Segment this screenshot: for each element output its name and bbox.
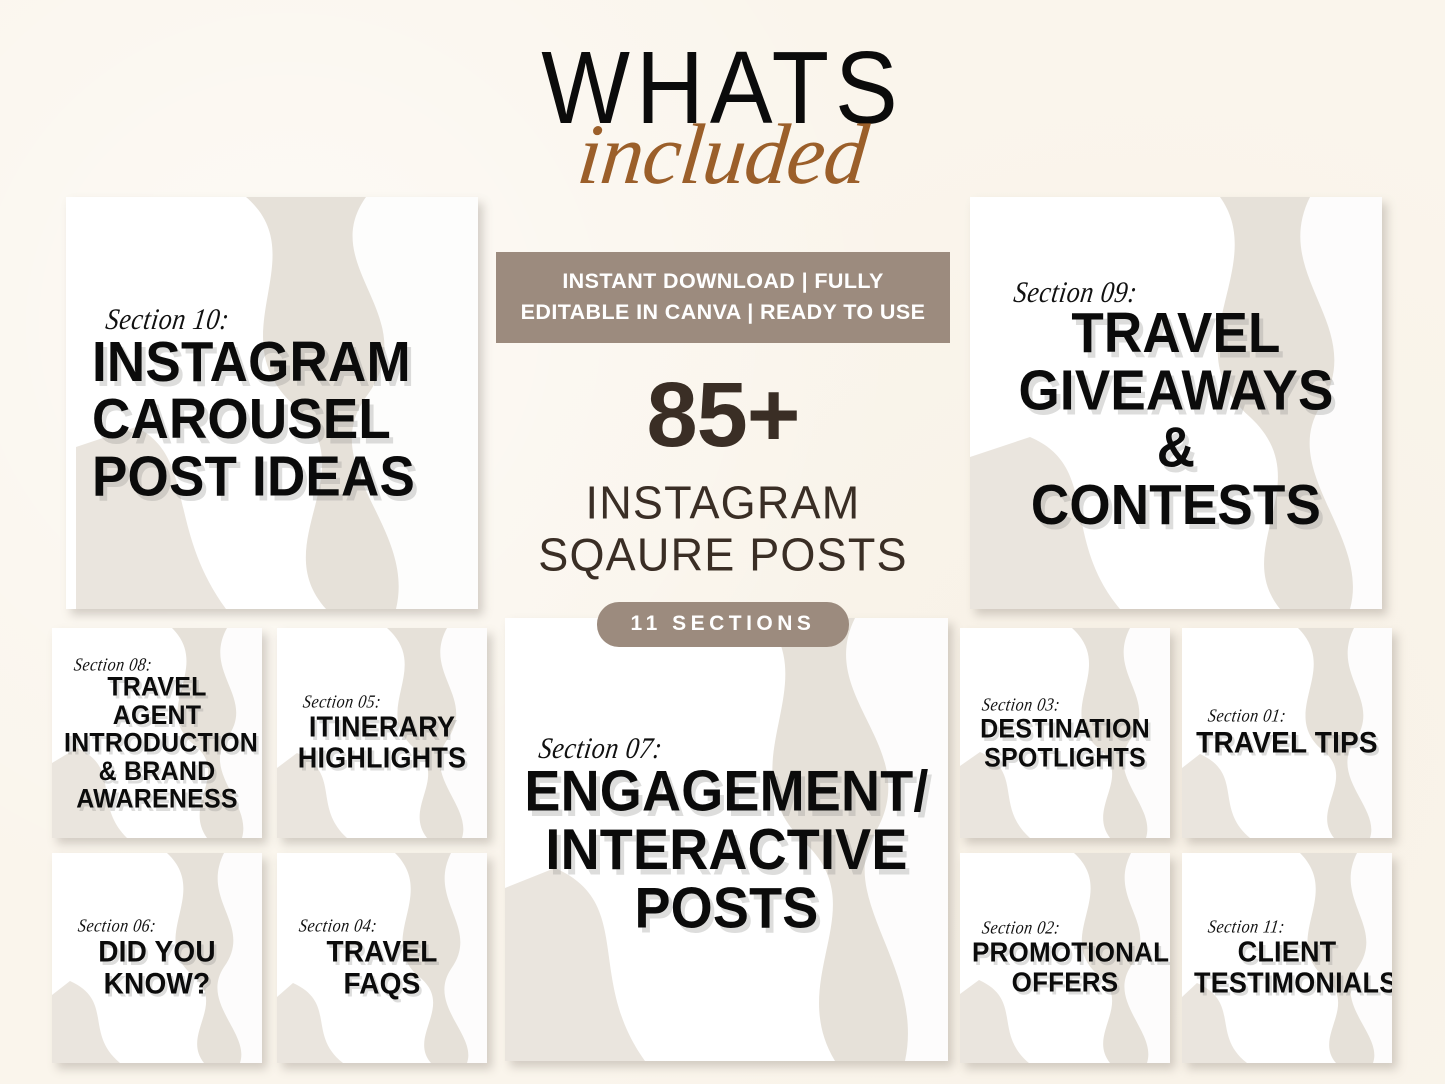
post-count: 85+	[496, 369, 950, 461]
card-title-line-3: POST IDEAS	[92, 449, 415, 506]
card-content: Section 02: PROMOTIONAL OFFERS	[960, 853, 1170, 1063]
card-title-line-3: & BRAND	[64, 757, 250, 785]
card-title-line-3: CONTESTS	[996, 477, 1356, 534]
center-info-column: INSTANT DOWNLOAD | FULLY EDITABLE IN CAN…	[496, 252, 950, 647]
card-title: TRAVEL FAQS	[289, 937, 475, 1000]
card-travel-faqs[interactable]: Section 04: TRAVEL FAQS	[277, 853, 487, 1063]
card-content: Section 04: TRAVEL FAQS	[277, 853, 487, 1063]
card-content: Section 03: DESTINATION SPOTLIGHTS	[960, 628, 1170, 838]
card-engagement-interactive[interactable]: Section 07: ENGAGEMENT/ INTERACTIVE POST…	[505, 618, 948, 1061]
card-title-line-1: ENGAGEMENT/	[521, 763, 932, 821]
post-type-label: INSTAGRAM SQAURE POSTS	[496, 477, 950, 582]
card-did-you-know[interactable]: Section 06: DID YOU KNOW?	[52, 853, 262, 1063]
card-content: Section 06: DID YOU KNOW?	[52, 853, 262, 1063]
card-title-line-1: DESTINATION	[972, 715, 1158, 743]
card-content: Section 08: TRAVEL AGENT INTRODUCTION & …	[52, 628, 262, 838]
card-travel-tips[interactable]: Section 01: TRAVEL TIPS	[1182, 628, 1392, 838]
card-title: TRAVEL AGENT INTRODUCTION & BRAND AWAREN…	[64, 673, 250, 813]
card-title: DESTINATION SPOTLIGHTS	[972, 715, 1158, 771]
card-content: Section 10: INSTAGRAM CAROUSEL POST IDEA…	[66, 197, 478, 609]
card-destination-spotlights[interactable]: Section 03: DESTINATION SPOTLIGHTS	[960, 628, 1170, 838]
section-label: Section 03:	[981, 695, 1160, 716]
card-title-line-1: DID YOU	[64, 937, 250, 968]
card-promotional-offers[interactable]: Section 02: PROMOTIONAL OFFERS	[960, 853, 1170, 1063]
card-title-line-2: INTERACTIVE	[521, 821, 932, 879]
card-title: TRAVEL TIPS	[1194, 727, 1380, 758]
post-type-line-2: SQAURE POSTS	[496, 529, 950, 581]
card-travel-agent-introduction[interactable]: Section 08: TRAVEL AGENT INTRODUCTION & …	[52, 628, 262, 838]
sections-count-badge: 11 SECTIONS	[597, 602, 850, 647]
card-title-line-2: CAROUSEL	[92, 391, 415, 448]
card-title-line-2: GIVEAWAYS &	[996, 363, 1356, 478]
card-title-line-1: ITINERARY	[289, 713, 475, 743]
section-label: Section 01:	[1207, 707, 1382, 728]
card-title-line-2: INTRODUCTION	[64, 729, 250, 757]
card-title-line-2: TESTIMONIALS	[1194, 968, 1380, 998]
card-client-testimonials[interactable]: Section 11: CLIENT TESTIMONIALS	[1182, 853, 1392, 1063]
card-title: INSTAGRAM CAROUSEL POST IDEAS	[92, 334, 415, 506]
card-title-line-2: OFFERS	[972, 968, 1158, 997]
card-title: ITINERARY HIGHLIGHTS	[289, 713, 475, 774]
card-title: PROMOTIONAL OFFERS	[972, 939, 1158, 997]
card-content: Section 11: CLIENT TESTIMONIALS	[1182, 853, 1392, 1063]
card-title: TRAVEL GIVEAWAYS & CONTESTS	[996, 305, 1356, 534]
card-travel-giveaways[interactable]: Section 09: TRAVEL GIVEAWAYS & CONTESTS	[970, 197, 1382, 609]
sections-pill-wrap: 11 SECTIONS	[496, 602, 950, 647]
card-content: Section 09: TRAVEL GIVEAWAYS & CONTESTS	[970, 197, 1382, 609]
card-title-line-2: HIGHLIGHTS	[289, 743, 475, 773]
card-instagram-carousel[interactable]: Section 10: INSTAGRAM CAROUSEL POST IDEA…	[66, 197, 478, 609]
card-title-line-1: INSTAGRAM	[92, 334, 415, 391]
card-title-line-1: TRAVEL TIPS	[1194, 727, 1380, 758]
card-title-line-1: CLIENT	[1194, 938, 1380, 968]
header-title-script: included	[0, 118, 1445, 191]
card-title-line-1: TRAVEL AGENT	[64, 673, 250, 729]
card-title: ENGAGEMENT/ INTERACTIVE POSTS	[521, 763, 932, 938]
card-content: Section 01: TRAVEL TIPS	[1182, 628, 1392, 838]
poster-header: WHATS included	[0, 44, 1445, 191]
card-itinerary-highlights[interactable]: Section 05: ITINERARY HIGHLIGHTS	[277, 628, 487, 838]
ribbon-line-1: INSTANT DOWNLOAD | FULLY	[506, 266, 940, 297]
card-title-line-3: POSTS	[521, 880, 932, 938]
card-content: Section 05: ITINERARY HIGHLIGHTS	[277, 628, 487, 838]
card-title-line-2: SPOTLIGHTS	[972, 743, 1158, 771]
card-title-line-2: KNOW?	[64, 968, 250, 999]
ribbon-line-2: EDITABLE IN CANVA | READY TO USE	[506, 297, 940, 328]
card-title-line-1: TRAVEL	[996, 305, 1356, 362]
instant-download-ribbon: INSTANT DOWNLOAD | FULLY EDITABLE IN CAN…	[496, 252, 950, 343]
card-title-line-1: TRAVEL FAQS	[289, 937, 475, 1000]
card-title-line-1: PROMOTIONAL	[972, 939, 1158, 968]
post-type-line-1: INSTAGRAM	[496, 477, 950, 529]
card-title-line-4: AWARENESS	[64, 785, 250, 813]
card-title: DID YOU KNOW?	[64, 937, 250, 1000]
poster-canvas: WHATS included INSTANT DOWNLOAD | FULLY …	[0, 0, 1445, 1084]
card-title: CLIENT TESTIMONIALS	[1194, 938, 1380, 999]
card-content: Section 07: ENGAGEMENT/ INTERACTIVE POST…	[505, 618, 948, 1061]
